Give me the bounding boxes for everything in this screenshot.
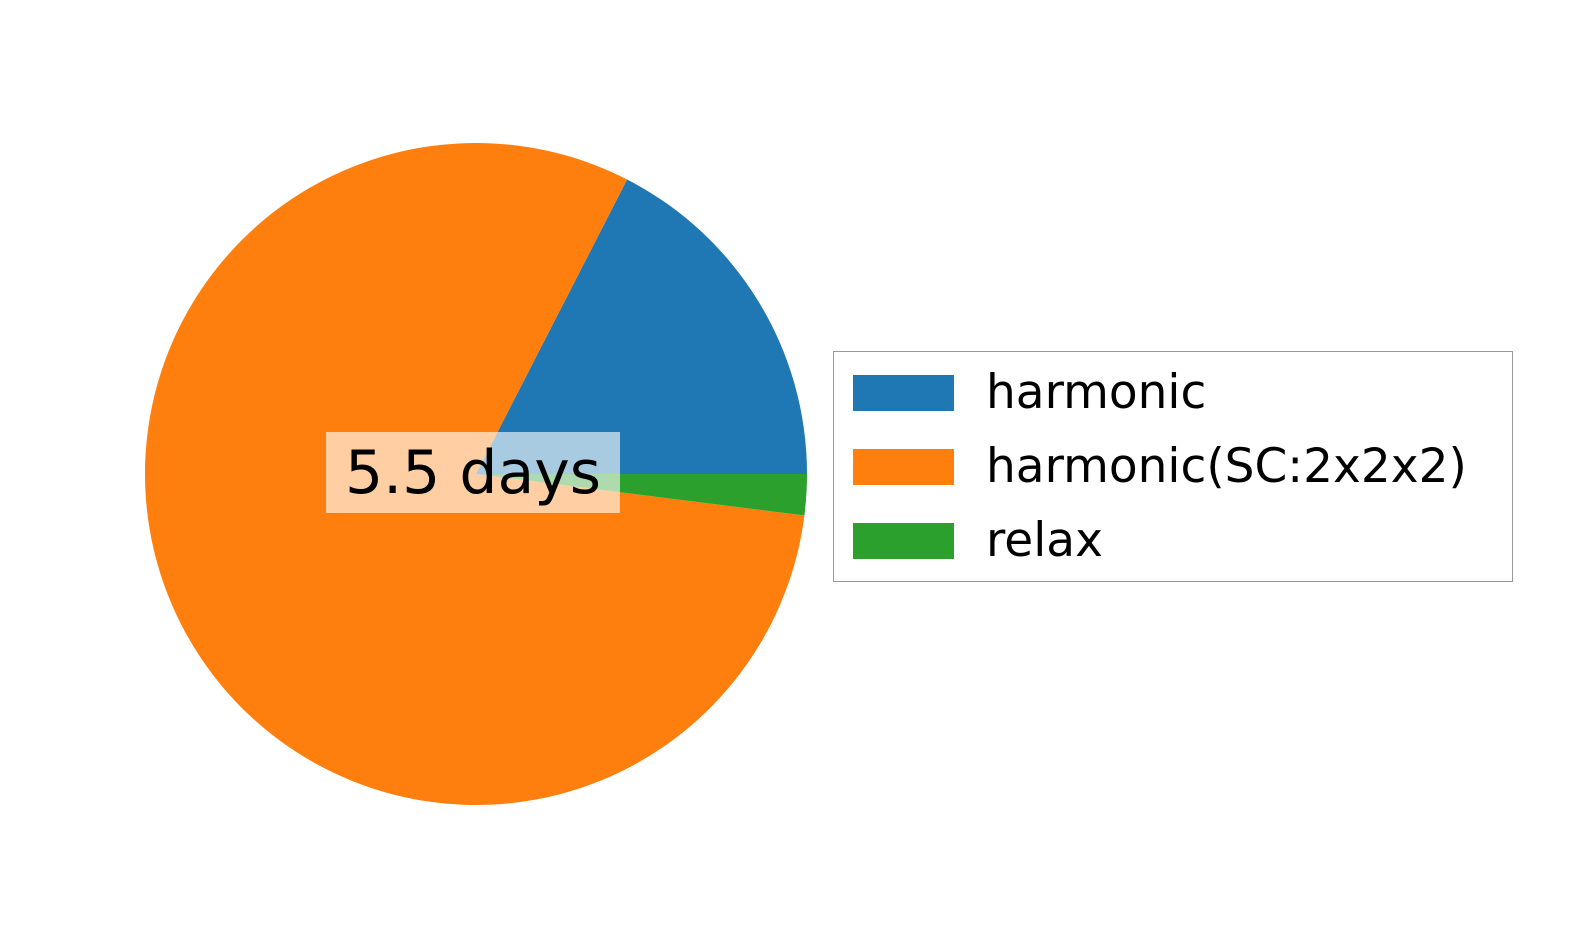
legend-swatch-1 (853, 375, 954, 411)
figure-canvas: 5.5 days harmonicharmonic(SC:2x2x2)relax (0, 0, 1585, 951)
legend-label: relax (986, 517, 1103, 564)
legend-items: harmonicharmonic(SC:2x2x2)relax (853, 374, 1512, 559)
legend-item: harmonic (853, 374, 1512, 411)
legend-item: relax (853, 522, 1512, 559)
legend-item: harmonic(SC:2x2x2) (853, 448, 1512, 485)
legend-label: harmonic (986, 369, 1206, 416)
legend-swatch-3 (853, 523, 954, 559)
pie-center-label: 5.5 days (326, 432, 620, 513)
legend-label: harmonic(SC:2x2x2) (986, 443, 1467, 490)
legend-swatch-2 (853, 449, 954, 485)
legend-box: harmonicharmonic(SC:2x2x2)relax (833, 351, 1513, 582)
